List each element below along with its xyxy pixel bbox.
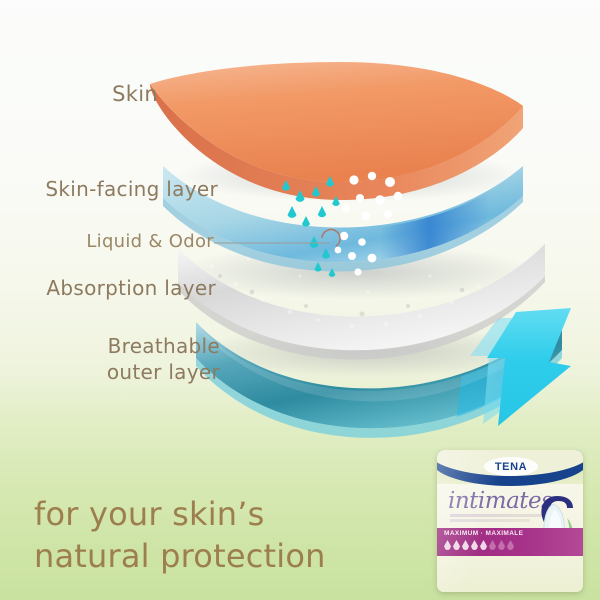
label-liquid-and-odor: Liquid & Odor xyxy=(0,232,214,253)
tagline: for your skin’s natural protection xyxy=(34,493,434,577)
drop-icon xyxy=(462,540,469,550)
drop-icon xyxy=(480,540,487,550)
absorbency-drops xyxy=(444,540,514,550)
drop-icon-empty xyxy=(489,540,496,550)
drop-icon xyxy=(444,540,451,550)
drop-icon xyxy=(453,540,460,550)
infographic-canvas: Skin Skin-facing layer Liquid & Odor Abs… xyxy=(0,0,600,600)
product-package: TENA intimates MAXIMUM · MAXIMALE xyxy=(437,450,583,592)
tena-logo: TENA xyxy=(484,457,538,476)
drop-icon-empty xyxy=(507,540,514,550)
label-skin: Skin xyxy=(0,82,158,106)
label-absorption-layer: Absorption layer xyxy=(0,277,216,300)
drop-icon-empty xyxy=(498,540,505,550)
absorbency-level-text: MAXIMUM · MAXIMALE xyxy=(444,530,523,537)
absorbency-band: MAXIMUM · MAXIMALE xyxy=(437,528,583,556)
package-fineprint-line-2 xyxy=(450,519,530,522)
label-breathable-outer-layer: Breathable outer layer xyxy=(0,333,220,385)
drop-icon xyxy=(471,540,478,550)
label-skin-facing-layer: Skin-facing layer xyxy=(0,178,218,201)
